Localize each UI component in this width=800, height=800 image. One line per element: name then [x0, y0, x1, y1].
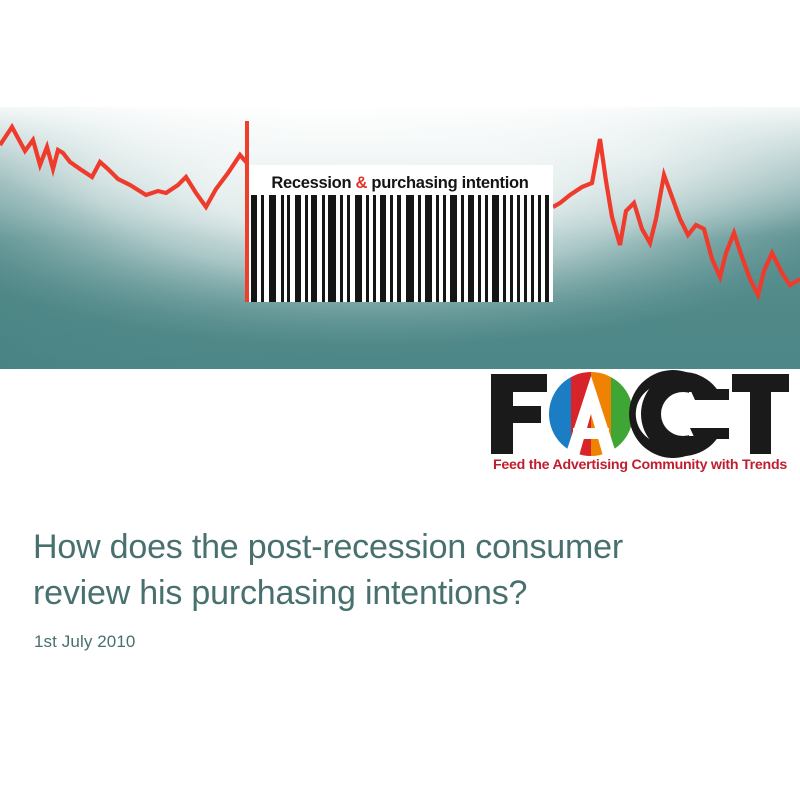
- barcode-bars: [247, 195, 553, 302]
- barcode-title-ampersand: &: [356, 174, 368, 192]
- logo-letter-c: [629, 370, 729, 458]
- logo-letter-t: [732, 374, 789, 454]
- fact-logo: Feed the Advertising Community with Tren…: [489, 370, 791, 480]
- page-title-line-1: How does the post-recession consumer: [33, 528, 623, 566]
- title-block: How does the post-recession consumerrevi…: [33, 524, 773, 652]
- barcode-title-prefix: Recession: [271, 174, 355, 192]
- fact-wordmark: [489, 370, 791, 458]
- logo-letter-a: [549, 372, 635, 458]
- barcode-title: Recession & purchasing intention: [247, 170, 553, 196]
- recession-banner: Recession & purchasing intention: [0, 107, 800, 369]
- page-title: How does the post-recession consumerrevi…: [33, 524, 773, 616]
- slide-canvas: Recession & purchasing intention: [0, 0, 800, 800]
- fact-tagline: Feed the Advertising Community with Tren…: [489, 457, 791, 473]
- page-title-line-2: review his purchasing intentions?: [33, 574, 527, 612]
- barcode-title-suffix: purchasing intention: [367, 174, 528, 192]
- slide-date: 1st July 2010: [34, 632, 773, 652]
- barcode-graphic: Recession & purchasing intention: [247, 165, 553, 302]
- logo-letter-f: [491, 374, 547, 454]
